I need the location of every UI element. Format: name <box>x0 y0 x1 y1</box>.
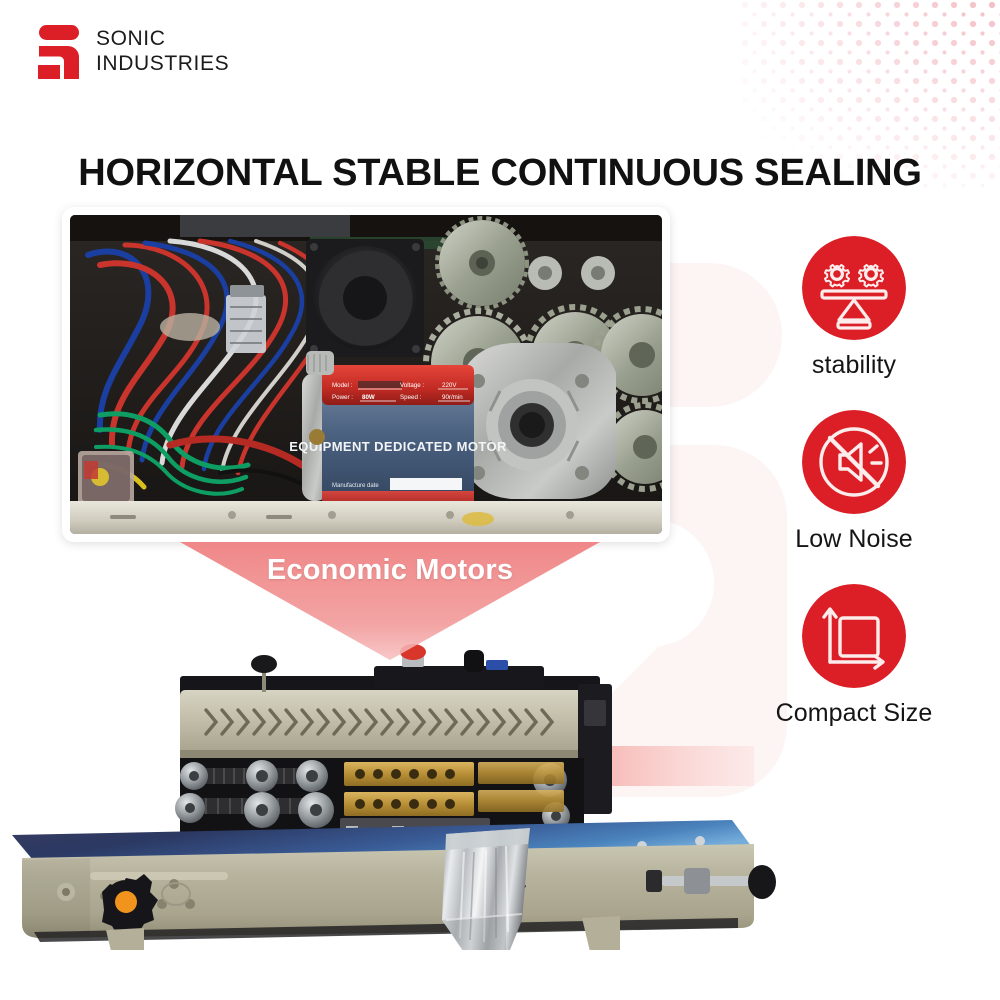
poster-canvas: SONIC INDUSTRIES HORIZONTAL STABLE CONTI… <box>0 0 1000 1000</box>
brand-line-1: SONIC <box>96 27 229 52</box>
feature-label: Low Noise <box>795 525 913 554</box>
feature-item-low-noise[interactable]: Low Noise <box>795 410 913 554</box>
motor-photo-card: Model : Voltage : 220V Power : 80W Speed… <box>62 207 670 542</box>
muted-speaker-icon <box>802 410 906 514</box>
banner-label: Economic Motors <box>180 554 600 587</box>
motor-gearbox-interior-photo: Model : Voltage : 220V Power : 80W Speed… <box>70 215 662 534</box>
page-title: HORIZONTAL STABLE CONTINUOUS SEALING <box>0 152 1000 195</box>
economic-motors-banner: Economic Motors <box>180 542 600 660</box>
continuous-band-sealer-machine-photo <box>0 620 784 950</box>
feature-list: stability Low Noise <box>734 236 974 728</box>
svg-text:Manufacture date: Manufacture date <box>332 483 379 489</box>
square-dimensions-icon <box>802 584 906 688</box>
feature-item-compact-size[interactable]: Compact Size <box>776 584 933 728</box>
svg-text:90r/min: 90r/min <box>442 394 463 401</box>
svg-text:80W: 80W <box>362 394 375 401</box>
svg-text:Power :: Power : <box>332 394 353 401</box>
svg-text:220V: 220V <box>442 382 457 389</box>
balance-gears-icon <box>802 236 906 340</box>
feature-label: stability <box>812 351 896 380</box>
feature-label: Compact Size <box>776 699 933 728</box>
foil-pouch <box>442 828 530 950</box>
svg-text:Speed :: Speed : <box>400 394 422 401</box>
brand-wordmark: SONIC INDUSTRIES <box>96 27 229 77</box>
brand-line-2: INDUSTRIES <box>96 52 229 77</box>
svg-text:Model :: Model : <box>332 382 353 389</box>
svg-text:Voltage :: Voltage : <box>400 382 424 389</box>
feature-item-stability[interactable]: stability <box>802 236 906 380</box>
brand-logo: SONIC INDUSTRIES <box>38 24 229 80</box>
sonic-s-mark-icon <box>38 24 80 80</box>
